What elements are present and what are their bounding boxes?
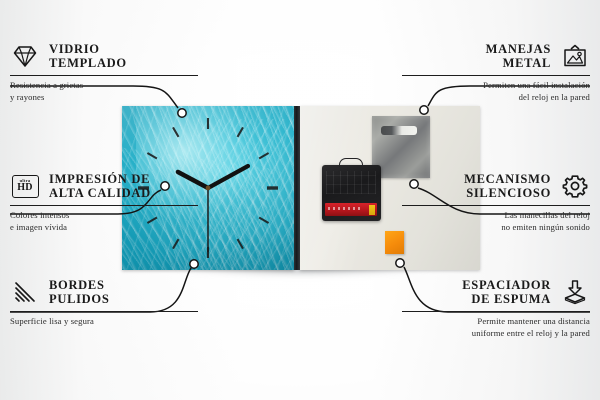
- endpoint-bordes: [190, 260, 198, 268]
- endpoint-espaciador: [396, 259, 404, 267]
- feature-desc-line2: e imagen vívida: [10, 222, 198, 233]
- feature-header: MECANISMO SILENCIOSO: [402, 172, 590, 200]
- feature-description: Resistencia a grietas y rayones: [10, 80, 198, 103]
- infographic-canvas: VIDRIO TEMPLADO Resistencia a grietas y …: [0, 0, 600, 400]
- endpoint-manejas: [420, 106, 428, 114]
- ultra-hd-main-label: HD: [17, 183, 32, 193]
- feature-description: Colores intensos e imagen vívida: [10, 210, 198, 233]
- feature-title: ESPACIADOR DE ESPUMA: [462, 278, 551, 306]
- diamond-icon: [10, 43, 40, 69]
- feature-title-line1: BORDES: [49, 278, 109, 292]
- feature-title-line1: MANEJAS: [486, 42, 551, 56]
- feature-header: ESPACIADOR DE ESPUMA: [402, 278, 590, 306]
- feature-header: VIDRIO TEMPLADO: [10, 42, 198, 70]
- feature-desc-line1: Permite mantener una distancia: [402, 316, 590, 327]
- feature-header: MANEJAS METAL: [402, 42, 590, 70]
- feature-desc-line1: Permiten una fácil instalación: [402, 80, 590, 91]
- feature-manejas-metal: MANEJAS METAL Permiten una fácil instala…: [402, 42, 590, 103]
- polished-edges-icon: [10, 279, 40, 305]
- feature-desc-line2: y rayones: [10, 92, 198, 103]
- feature-description: Superficie lisa y segura: [10, 316, 198, 327]
- feature-title: VIDRIO TEMPLADO: [49, 42, 127, 70]
- feature-title-line2: SILENCIOSO: [464, 186, 551, 200]
- feature-desc-line2: del reloj en la pared: [402, 92, 590, 103]
- feature-divider: [10, 75, 198, 76]
- feature-title: IMPRESIÓN DE ALTA CALIDAD: [49, 172, 151, 200]
- feature-title-line2: METAL: [486, 56, 551, 70]
- feature-bordes-pulidos: BORDES PULIDOS Superficie lisa y segura: [10, 278, 198, 328]
- feature-description: Permite mantener una distancia uniforme …: [402, 316, 590, 339]
- feature-divider: [10, 311, 198, 312]
- feature-header: ultra HD IMPRESIÓN DE ALTA CALIDAD: [10, 172, 198, 200]
- endpoint-vidrio: [178, 109, 186, 117]
- feature-title: BORDES PULIDOS: [49, 278, 109, 306]
- feature-divider: [402, 75, 590, 76]
- feature-divider: [402, 311, 590, 312]
- feature-title-line1: ESPACIADOR: [462, 278, 551, 292]
- feature-desc-line1: Las manecillas del reloj: [402, 210, 590, 221]
- foam-spacer-icon: [560, 279, 590, 305]
- feature-title-line1: IMPRESIÓN DE: [49, 172, 151, 186]
- feature-desc-line2: uniforme entre el reloj y la pared: [402, 328, 590, 339]
- feature-divider: [10, 205, 198, 206]
- feature-description: Las manecillas del reloj no emiten ningú…: [402, 210, 590, 233]
- feature-title-line1: MECANISMO: [464, 172, 551, 186]
- feature-description: Permiten una fácil instalación del reloj…: [402, 80, 590, 103]
- feature-title: MECANISMO SILENCIOSO: [464, 172, 551, 200]
- feature-divider: [402, 205, 590, 206]
- feature-impresion-alta-calidad: ultra HD IMPRESIÓN DE ALTA CALIDAD Color…: [10, 172, 198, 233]
- gear-icon: [560, 173, 590, 199]
- feature-title-line1: VIDRIO: [49, 42, 127, 56]
- feature-desc-line1: Colores intensos: [10, 210, 198, 221]
- feature-title-line2: TEMPLADO: [49, 56, 127, 70]
- feature-title-line2: PULIDOS: [49, 292, 109, 306]
- feature-desc-line2: no emiten ningún sonido: [402, 222, 590, 233]
- feature-header: BORDES PULIDOS: [10, 278, 198, 306]
- feature-title: MANEJAS METAL: [486, 42, 551, 70]
- feature-desc-line1: Superficie lisa y segura: [10, 316, 198, 327]
- feature-vidrio-templado: VIDRIO TEMPLADO Resistencia a grietas y …: [10, 42, 198, 103]
- feature-title-line2: ALTA CALIDAD: [49, 186, 151, 200]
- feature-title-line2: DE ESPUMA: [462, 292, 551, 306]
- feature-mecanismo-silencioso: MECANISMO SILENCIOSO Las manecillas del …: [402, 172, 590, 233]
- feature-desc-line1: Resistencia a grietas: [10, 80, 198, 91]
- feature-espaciador-espuma: ESPACIADOR DE ESPUMA Permite mantener un…: [402, 278, 590, 339]
- picture-hanger-icon: [560, 43, 590, 69]
- ultra-hd-icon: ultra HD: [10, 173, 40, 199]
